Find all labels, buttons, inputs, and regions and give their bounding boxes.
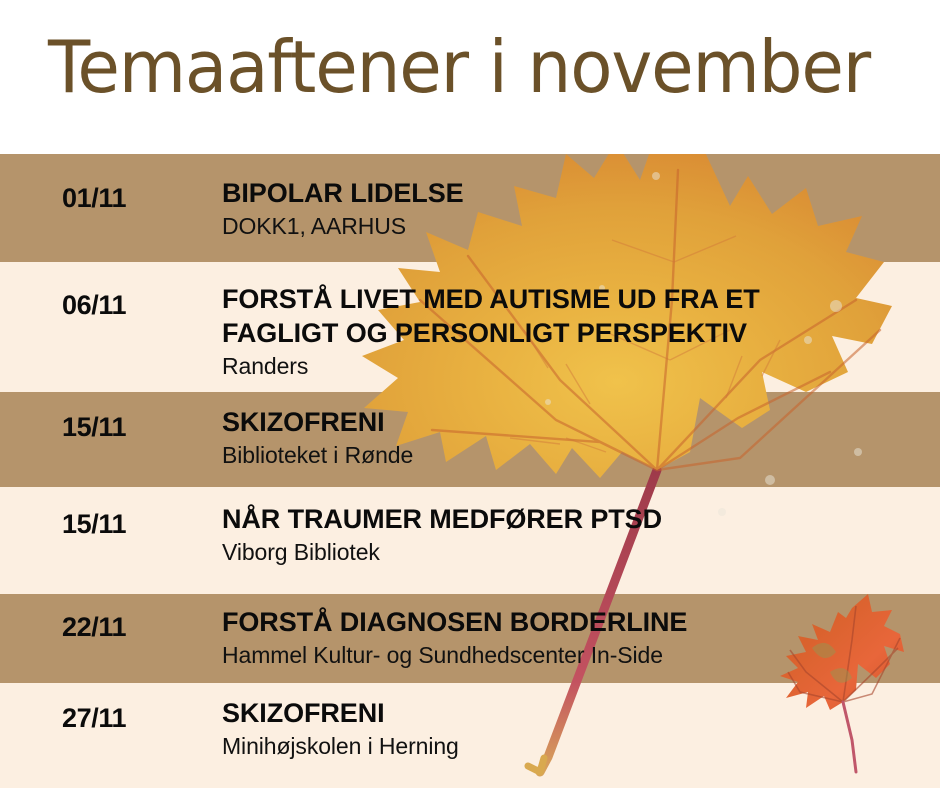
event-venue: Randers xyxy=(222,351,930,381)
event-body: FORSTÅ LIVET MED AUTISME UD FRA ETFAGLIG… xyxy=(222,282,930,381)
schedule-row[interactable]: 22/11FORSTÅ DIAGNOSEN BORDERLINEHammel K… xyxy=(0,594,940,683)
poster-header: Temaaftener i november xyxy=(0,0,940,154)
event-venue: Biblioteket i Rønde xyxy=(222,440,930,470)
event-date: 15/11 xyxy=(62,412,126,443)
schedule-row[interactable]: 06/11FORSTÅ LIVET MED AUTISME UD FRA ETF… xyxy=(0,262,940,392)
event-title-line2: FAGLIGT OG PERSONLIGT PERSPEKTIV xyxy=(222,316,930,350)
event-body: NÅR TRAUMER MEDFØRER PTSDViborg Bibliote… xyxy=(222,502,930,567)
event-title: BIPOLAR LIDELSE xyxy=(222,176,930,210)
event-date: 22/11 xyxy=(62,612,126,643)
event-date: 27/11 xyxy=(62,703,126,734)
schedule-row[interactable]: 01/11BIPOLAR LIDELSEDOKK1, AARHUS xyxy=(0,154,940,262)
event-title: NÅR TRAUMER MEDFØRER PTSD xyxy=(222,502,930,536)
event-title: SKIZOFRENI xyxy=(222,405,930,439)
event-venue: Minihøjskolen i Herning xyxy=(222,731,930,761)
schedule-row[interactable]: 27/11SKIZOFRENIMinihøjskolen i Herning xyxy=(0,683,940,788)
event-title: FORSTÅ LIVET MED AUTISME UD FRA ET xyxy=(222,282,930,316)
event-venue: Hammel Kultur- og Sundhedscenter In-Side xyxy=(222,640,930,670)
event-body: FORSTÅ DIAGNOSEN BORDERLINEHammel Kultur… xyxy=(222,605,930,670)
poster-canvas: Temaaftener i november 01/11BIPOLAR LIDE… xyxy=(0,0,940,788)
page-title: Temaaftener i november xyxy=(48,26,870,108)
event-body: SKIZOFRENIBiblioteket i Rønde xyxy=(222,405,930,470)
event-title: FORSTÅ DIAGNOSEN BORDERLINE xyxy=(222,605,930,639)
event-venue: DOKK1, AARHUS xyxy=(222,211,930,241)
event-date: 15/11 xyxy=(62,509,126,540)
event-body: BIPOLAR LIDELSEDOKK1, AARHUS xyxy=(222,176,930,241)
schedule-row[interactable]: 15/11SKIZOFRENIBiblioteket i Rønde xyxy=(0,392,940,487)
event-date: 01/11 xyxy=(62,183,126,214)
event-venue: Viborg Bibliotek xyxy=(222,537,930,567)
event-body: SKIZOFRENIMinihøjskolen i Herning xyxy=(222,696,930,761)
schedule-row[interactable]: 15/11NÅR TRAUMER MEDFØRER PTSDViborg Bib… xyxy=(0,487,940,594)
event-date: 06/11 xyxy=(62,290,126,321)
event-title: SKIZOFRENI xyxy=(222,696,930,730)
